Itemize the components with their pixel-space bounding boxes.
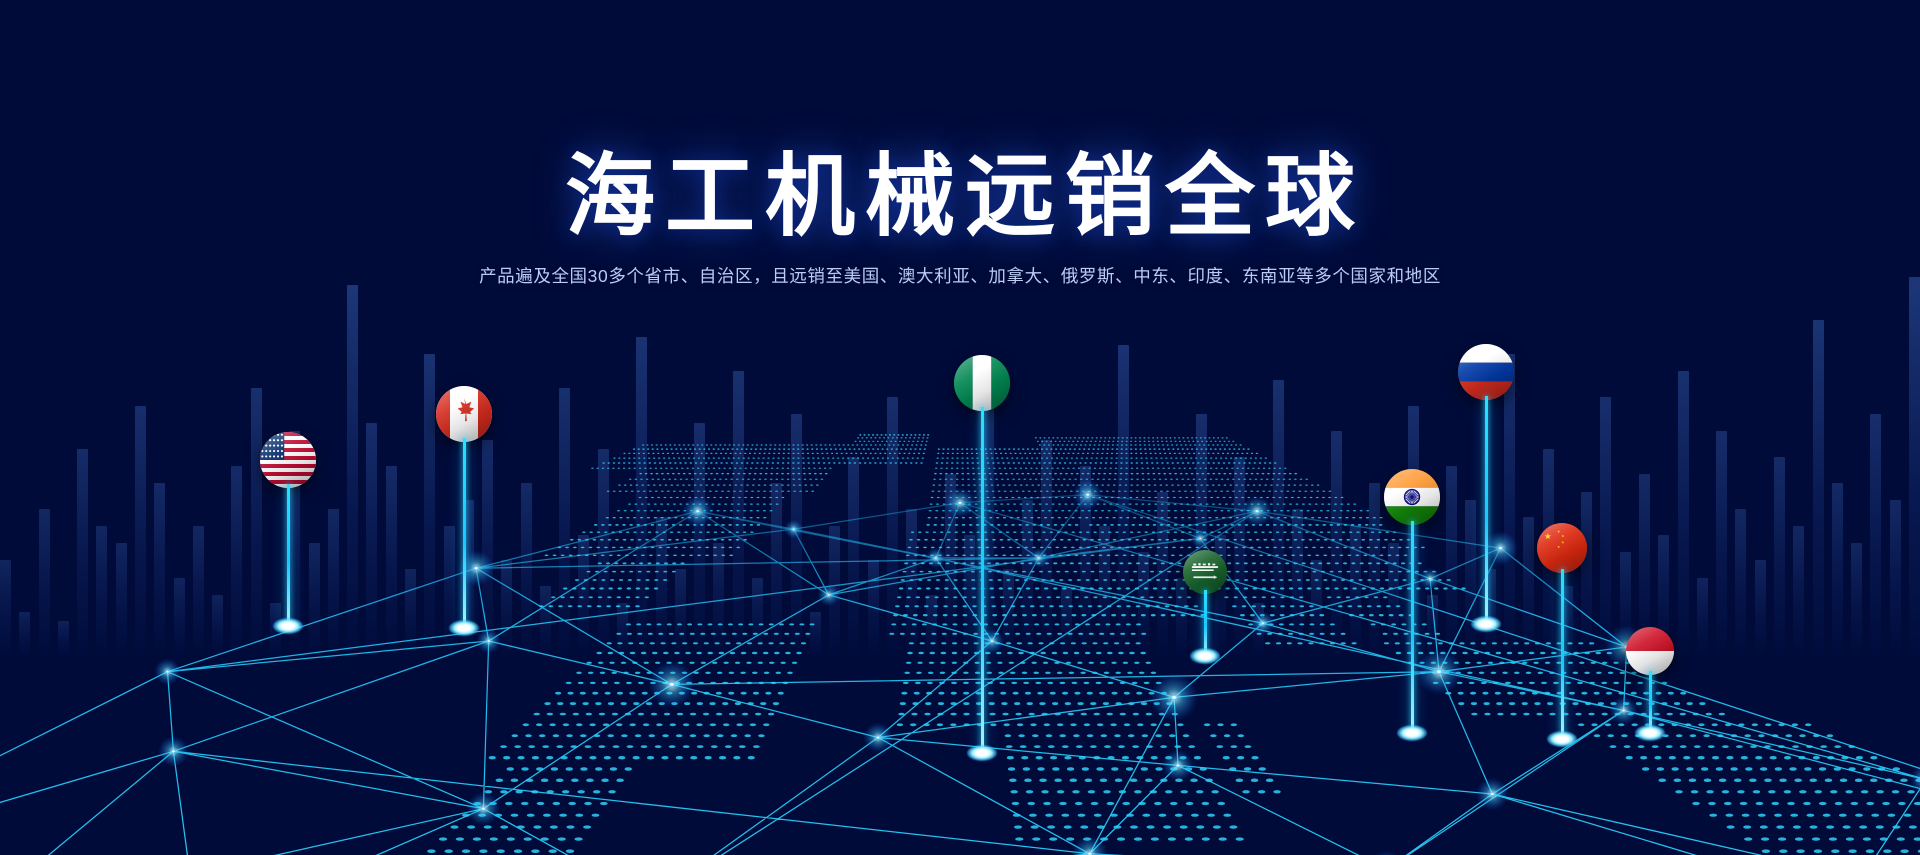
map-node [826, 593, 831, 596]
page-subtitle: 产品遍及全国30多个省市、自治区，且远销至美国、澳大利亚、加拿大、俄罗斯、中东、… [0, 264, 1920, 289]
map-node [957, 500, 964, 505]
map-node [1434, 668, 1444, 675]
map-node [1260, 621, 1265, 625]
pin-base-glow [1190, 648, 1220, 664]
page-title: 海工机械远销全球 [0, 152, 1920, 244]
pin-base-glow [449, 620, 479, 636]
map-node [1198, 537, 1202, 540]
banner-stage: 海工机械远销全球 产品遍及全国30多个省市、自治区，且远销至美国、澳大利亚、加拿… [0, 0, 1920, 855]
flag-nigeria-icon [954, 355, 1010, 411]
map-node [1175, 763, 1182, 768]
pin-pole [1411, 521, 1414, 733]
map-node [1497, 545, 1505, 550]
pin-pole [463, 438, 466, 628]
pin-pole [1204, 590, 1207, 656]
pin-base-glow [1397, 725, 1427, 741]
map-node [875, 735, 882, 740]
flag-pin-russia[interactable] [1458, 344, 1514, 400]
flag-saudi-icon [1183, 550, 1227, 594]
map-node [170, 749, 177, 754]
map-node [791, 528, 795, 531]
flag-india-icon [1384, 469, 1440, 525]
pin-base-glow [1635, 725, 1665, 741]
map-node [1036, 556, 1041, 559]
map-node [1169, 694, 1180, 701]
flag-pin-canada[interactable] [436, 386, 492, 442]
flag-pin-indonesia[interactable] [1626, 627, 1674, 675]
map-node-glow [1368, 851, 1405, 855]
map-node [1084, 492, 1091, 497]
flag-pin-india[interactable] [1384, 469, 1440, 525]
map-node [1253, 509, 1260, 514]
flag-canada-icon [436, 386, 492, 442]
flag-russia-icon [1458, 344, 1514, 400]
map-node [667, 681, 677, 688]
map-node [165, 670, 171, 674]
map-dot-layer [329, 434, 1920, 855]
map-node [694, 509, 701, 514]
flag-pin-nigeria[interactable] [954, 355, 1010, 411]
flag-us-icon [260, 432, 316, 488]
map-node [472, 565, 480, 571]
map-node [1489, 792, 1496, 797]
flag-china-icon [1537, 523, 1587, 573]
pin-base-glow [967, 745, 997, 761]
map-node [480, 806, 488, 811]
pin-pole [981, 407, 984, 753]
map-node [1620, 708, 1626, 712]
map-node [1428, 577, 1433, 580]
flag-pin-saudi-arabia[interactable] [1183, 550, 1227, 594]
flag-indonesia-icon [1626, 627, 1674, 675]
pin-pole [1649, 671, 1652, 733]
pin-base-glow [1471, 616, 1501, 632]
pin-pole [1561, 569, 1564, 739]
pin-base-glow [1547, 731, 1577, 747]
map-node [934, 556, 939, 559]
flag-pin-united-states[interactable] [260, 432, 316, 488]
headline-block: 海工机械远销全球 产品遍及全国30多个省市、自治区，且远销至美国、澳大利亚、加拿… [0, 152, 1920, 288]
flag-pin-china[interactable] [1537, 523, 1587, 573]
map-dots [329, 434, 1920, 855]
map-node [989, 639, 995, 643]
map-node [486, 639, 492, 643]
pin-base-glow [273, 618, 303, 634]
pin-pole [287, 484, 290, 626]
pin-pole [1485, 396, 1488, 624]
